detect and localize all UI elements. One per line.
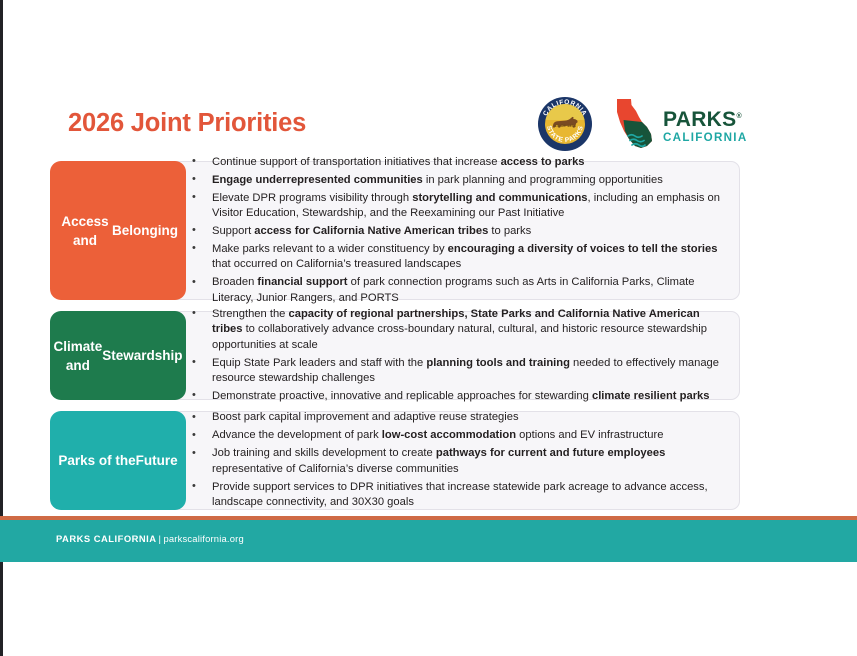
priority-bullet-item: Provide support services to DPR initiati… — [184, 480, 724, 511]
priority-bullet-item: Make parks relevant to a wider constitue… — [184, 242, 724, 273]
bullet-text: in park planning and programming opportu… — [423, 174, 663, 186]
footer-band: PARKS CALIFORNIA|parkscalifornia.org — [0, 516, 857, 562]
bullet-text: Make parks relevant to a wider constitue… — [212, 243, 448, 255]
priority-bullet-item: Equip State Park leaders and staff with … — [184, 356, 724, 387]
bullet-text: to parks — [488, 225, 531, 237]
california-state-outline-icon — [611, 98, 657, 150]
footer-credit: PARKS CALIFORNIA|parkscalifornia.org — [56, 533, 244, 544]
california-state-parks-seal: CALIFORNIA STATE PARKS SINCE 1864 — [538, 97, 592, 151]
bullet-text: representative of California’s diverse c… — [212, 463, 459, 475]
priority-label-access-and-belonging: Access andBelonging — [50, 161, 186, 300]
footer-url[interactable]: parkscalifornia.org — [163, 533, 243, 544]
parks-california-wordmark: PARKS® CALIFORNIA — [663, 106, 748, 144]
priority-bullet-list: Continue support of transportation initi… — [184, 161, 724, 300]
priority-label-parks-of-the-future: Parks of theFuture — [50, 411, 186, 510]
california-word: CALIFORNIA — [663, 131, 748, 144]
bullet-text: Provide support services to DPR initiati… — [212, 481, 708, 509]
priority-bullet-item: Advance the development of park low-cost… — [184, 428, 724, 444]
priority-bullet-item: Elevate DPR programs visibility through … — [184, 191, 724, 222]
bullet-text: Demonstrate proactive, innovative and re… — [212, 390, 592, 402]
priority-row-climate-and-stewardship: Strengthen the capacity of regional part… — [50, 311, 740, 400]
logo-row: CALIFORNIA STATE PARKS SINCE 1864 PARKS®… — [533, 95, 748, 153]
bullet-text: Broaden — [212, 276, 257, 288]
priority-bullet-item: Job training and skills development to c… — [184, 446, 724, 477]
bullet-emphasis: financial support — [257, 276, 347, 288]
priority-label-line: Future — [136, 451, 178, 470]
priority-label-climate-and-stewardship: Climate andStewardship — [50, 311, 186, 400]
bullet-emphasis: encouraging a diversity of voices to tel… — [448, 243, 718, 255]
bullet-emphasis: climate resilient parks — [592, 390, 710, 402]
bullet-text: Support — [212, 225, 254, 237]
bullet-emphasis: Engage underrepresented communities — [212, 174, 423, 186]
bullet-emphasis: pathways for current and future employee… — [436, 447, 665, 459]
footer-accent-stripe — [0, 516, 857, 520]
bullet-emphasis: planning tools and training — [426, 357, 570, 369]
priority-bullet-item: Engage underrepresented communities in p… — [184, 173, 724, 189]
priority-bullet-item: Continue support of transportation initi… — [184, 155, 724, 171]
priority-bullet-item: Demonstrate proactive, innovative and re… — [184, 389, 724, 405]
priority-bullet-list: Strengthen the capacity of regional part… — [184, 311, 724, 400]
bullet-text: Continue support of transportation initi… — [212, 156, 501, 168]
bullet-text: Boost park capital improvement and adapt… — [212, 411, 519, 423]
parks-california-logo: PARKS® CALIFORNIA — [611, 95, 748, 153]
priority-label-line: Climate and — [53, 337, 102, 375]
bullet-emphasis: storytelling and communications — [412, 192, 587, 204]
bullet-text: Job training and skills development to c… — [212, 447, 436, 459]
footer-brand: PARKS CALIFORNIA — [56, 533, 157, 544]
bullet-emphasis: access to parks — [501, 156, 585, 168]
bullet-emphasis: access for California Native American tr… — [254, 225, 488, 237]
bullet-text: Advance the development of park — [212, 429, 382, 441]
priority-row-access-and-belonging: Continue support of transportation initi… — [50, 161, 740, 300]
bullet-text: Elevate DPR programs visibility through — [212, 192, 412, 204]
registered-mark-icon: ® — [736, 113, 741, 120]
bullet-emphasis: low-cost accommodation — [382, 429, 516, 441]
bullet-text: Equip State Park leaders and staff with … — [212, 357, 426, 369]
priority-row-parks-of-the-future: Boost park capital improvement and adapt… — [50, 411, 740, 510]
bullet-text: options and EV infrastructure — [516, 429, 663, 441]
priority-bullet-item: Strengthen the capacity of regional part… — [184, 307, 724, 354]
bullet-text: to collaboratively advance cross-boundar… — [212, 323, 707, 351]
priority-bullet-item: Support access for California Native Ame… — [184, 224, 724, 240]
priority-label-line: Parks of the — [58, 451, 135, 470]
bullet-text: Strengthen the — [212, 308, 289, 320]
priority-label-line: Stewardship — [102, 346, 182, 365]
priority-label-line: Access and — [58, 212, 112, 250]
priority-bullet-item: Boost park capital improvement and adapt… — [184, 410, 724, 426]
priority-label-line: Belonging — [112, 221, 178, 240]
seal-since-label: SINCE 1864 — [549, 124, 581, 128]
priority-bullet-item: Broaden financial support of park connec… — [184, 275, 724, 306]
parks-word: PARKS® — [663, 106, 748, 130]
bullet-text: that occurred on California’s treasured … — [212, 258, 461, 270]
priority-bullet-list: Boost park capital improvement and adapt… — [184, 411, 724, 510]
slide-canvas: 2026 Joint Priorities CALIFORNIA STATE P… — [0, 0, 857, 656]
page-title: 2026 Joint Priorities — [68, 109, 306, 138]
